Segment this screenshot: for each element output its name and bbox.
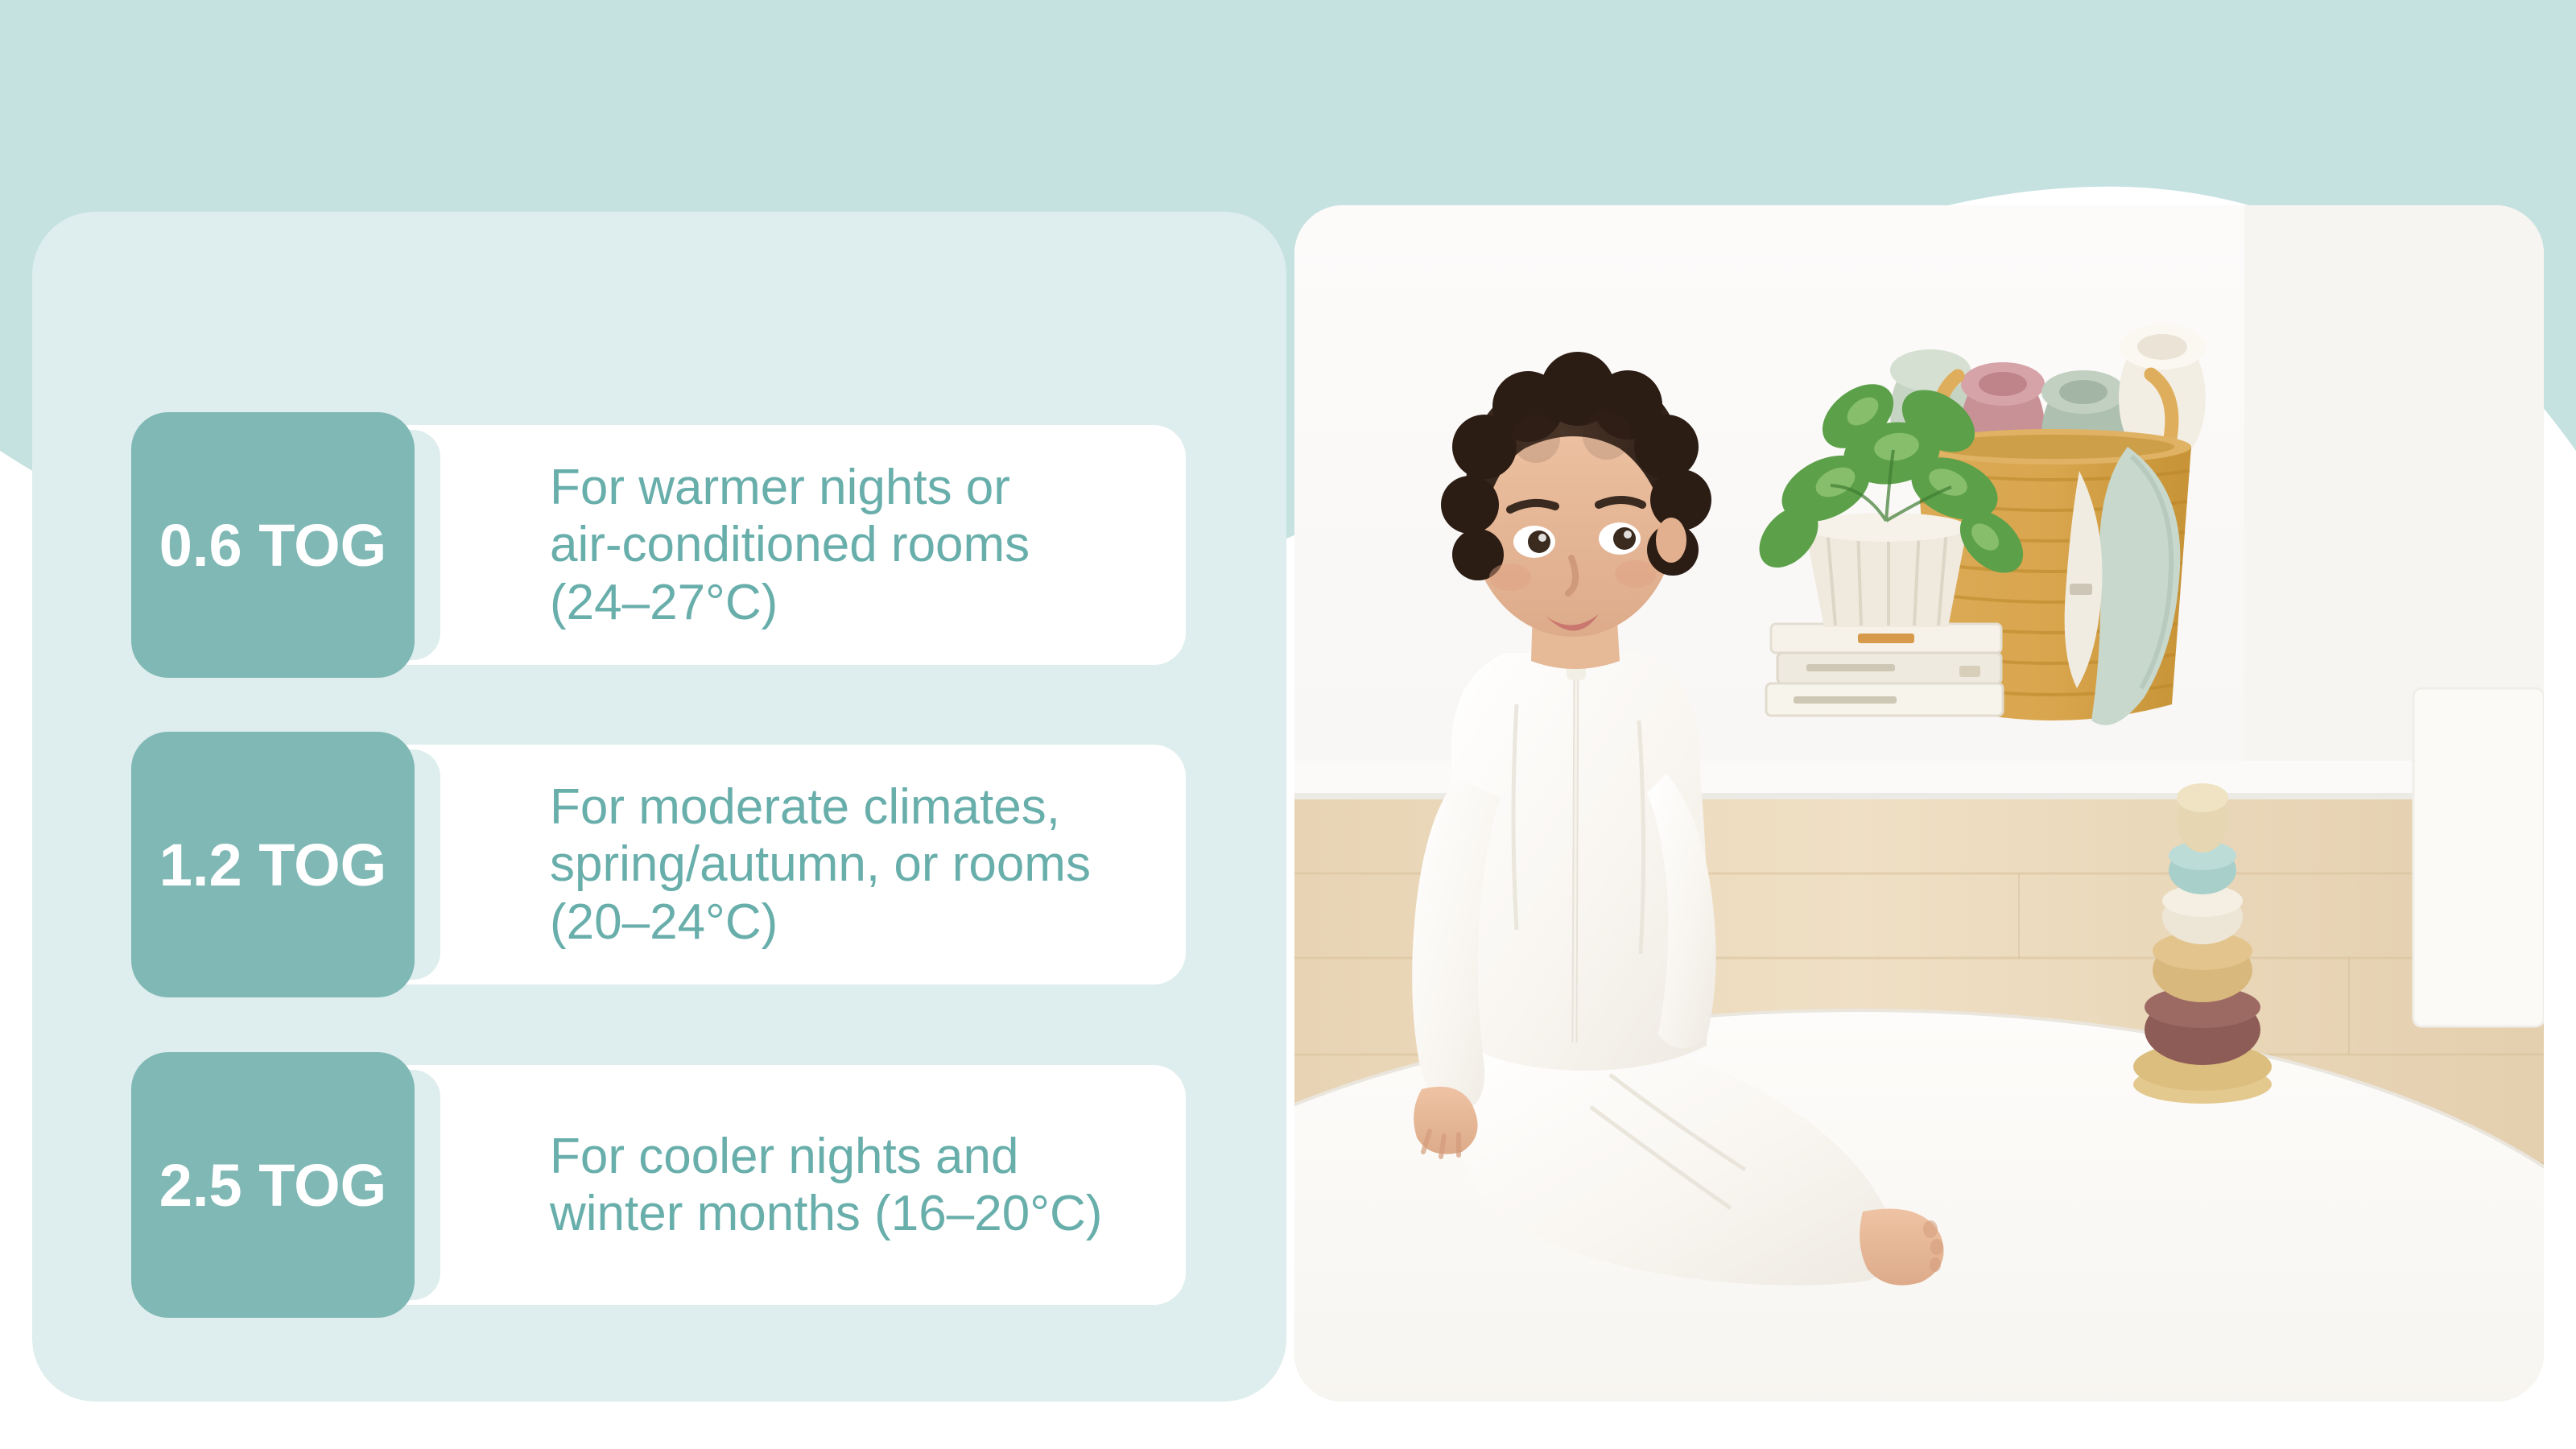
slide-canvas: TOGRoom Temperature 0.6 TOG For warmer n…	[0, 0, 2576, 1449]
tog-badge[interactable]: 1.2 TOG	[131, 732, 415, 997]
tog-badge-label: 2.5 TOG	[159, 1151, 386, 1220]
tog-badge-label: 0.6 TOG	[159, 511, 386, 580]
tog-row-description: For cooler nights and winter months (16–…	[550, 1065, 1113, 1305]
tog-badge-label: 1.2 TOG	[159, 831, 386, 899]
photo-illustration	[1294, 205, 2544, 1402]
tog-row-list: 0.6 TOG For warmer nights or air-conditi…	[32, 212, 1286, 1402]
lifestyle-photo	[1294, 205, 2544, 1402]
tog-row[interactable]: 0.6 TOG For warmer nights or air-conditi…	[131, 425, 1186, 665]
tog-row[interactable]: 2.5 TOG For cooler nights and winter mon…	[131, 1065, 1186, 1305]
tog-badge[interactable]: 2.5 TOG	[131, 1052, 415, 1318]
tog-description-text: For cooler nights and winter months (16–…	[550, 1128, 1113, 1243]
tog-badge[interactable]: 0.6 TOG	[131, 412, 415, 678]
tog-description-text: For moderate climates, spring/autumn, or…	[550, 778, 1113, 951]
tog-description-text: For warmer nights or air-conditioned roo…	[550, 459, 1113, 631]
tog-info-panel: TOGRoom Temperature 0.6 TOG For warmer n…	[32, 212, 1286, 1402]
tog-row-description: For warmer nights or air-conditioned roo…	[550, 425, 1113, 665]
tog-row-description: For moderate climates, spring/autumn, or…	[550, 745, 1113, 985]
tog-row[interactable]: 1.2 TOG For moderate climates, spring/au…	[131, 745, 1186, 985]
